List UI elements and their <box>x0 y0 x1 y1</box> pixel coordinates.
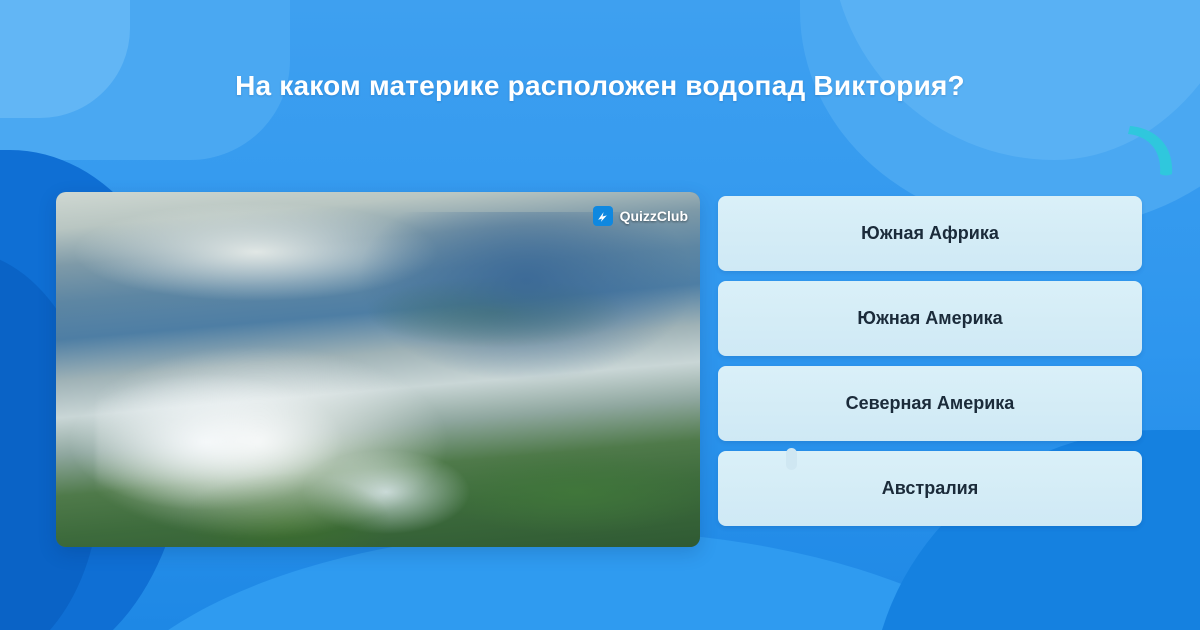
question-text: На каком материке расположен водопад Вик… <box>0 70 1200 102</box>
answer-option-2[interactable]: Южная Америка <box>718 281 1142 356</box>
answer-option-3[interactable]: Северная Америка <box>718 366 1142 441</box>
answer-option-4[interactable]: Австралия <box>718 451 1142 526</box>
answer-option-1[interactable]: Южная Африка <box>718 196 1142 271</box>
watermark: QuizzClub <box>593 206 688 226</box>
quizzclub-logo-icon <box>593 206 613 226</box>
answer-option-3-label: Северная Америка <box>846 393 1015 414</box>
answer-list: Южная Африка Южная Америка Северная Амер… <box>718 196 1142 526</box>
answer-option-1-label: Южная Африка <box>861 223 999 244</box>
crescent-icon <box>1124 122 1178 178</box>
answer-option-2-label: Южная Америка <box>857 308 1002 329</box>
scrollbar-thumb[interactable] <box>786 448 797 470</box>
watermark-label: QuizzClub <box>620 208 688 224</box>
answer-option-4-label: Австралия <box>882 478 978 499</box>
question-image-card: QuizzClub <box>56 192 700 547</box>
photo-mist-region <box>96 342 456 542</box>
quiz-card: На каком материке расположен водопад Вик… <box>0 0 1200 630</box>
